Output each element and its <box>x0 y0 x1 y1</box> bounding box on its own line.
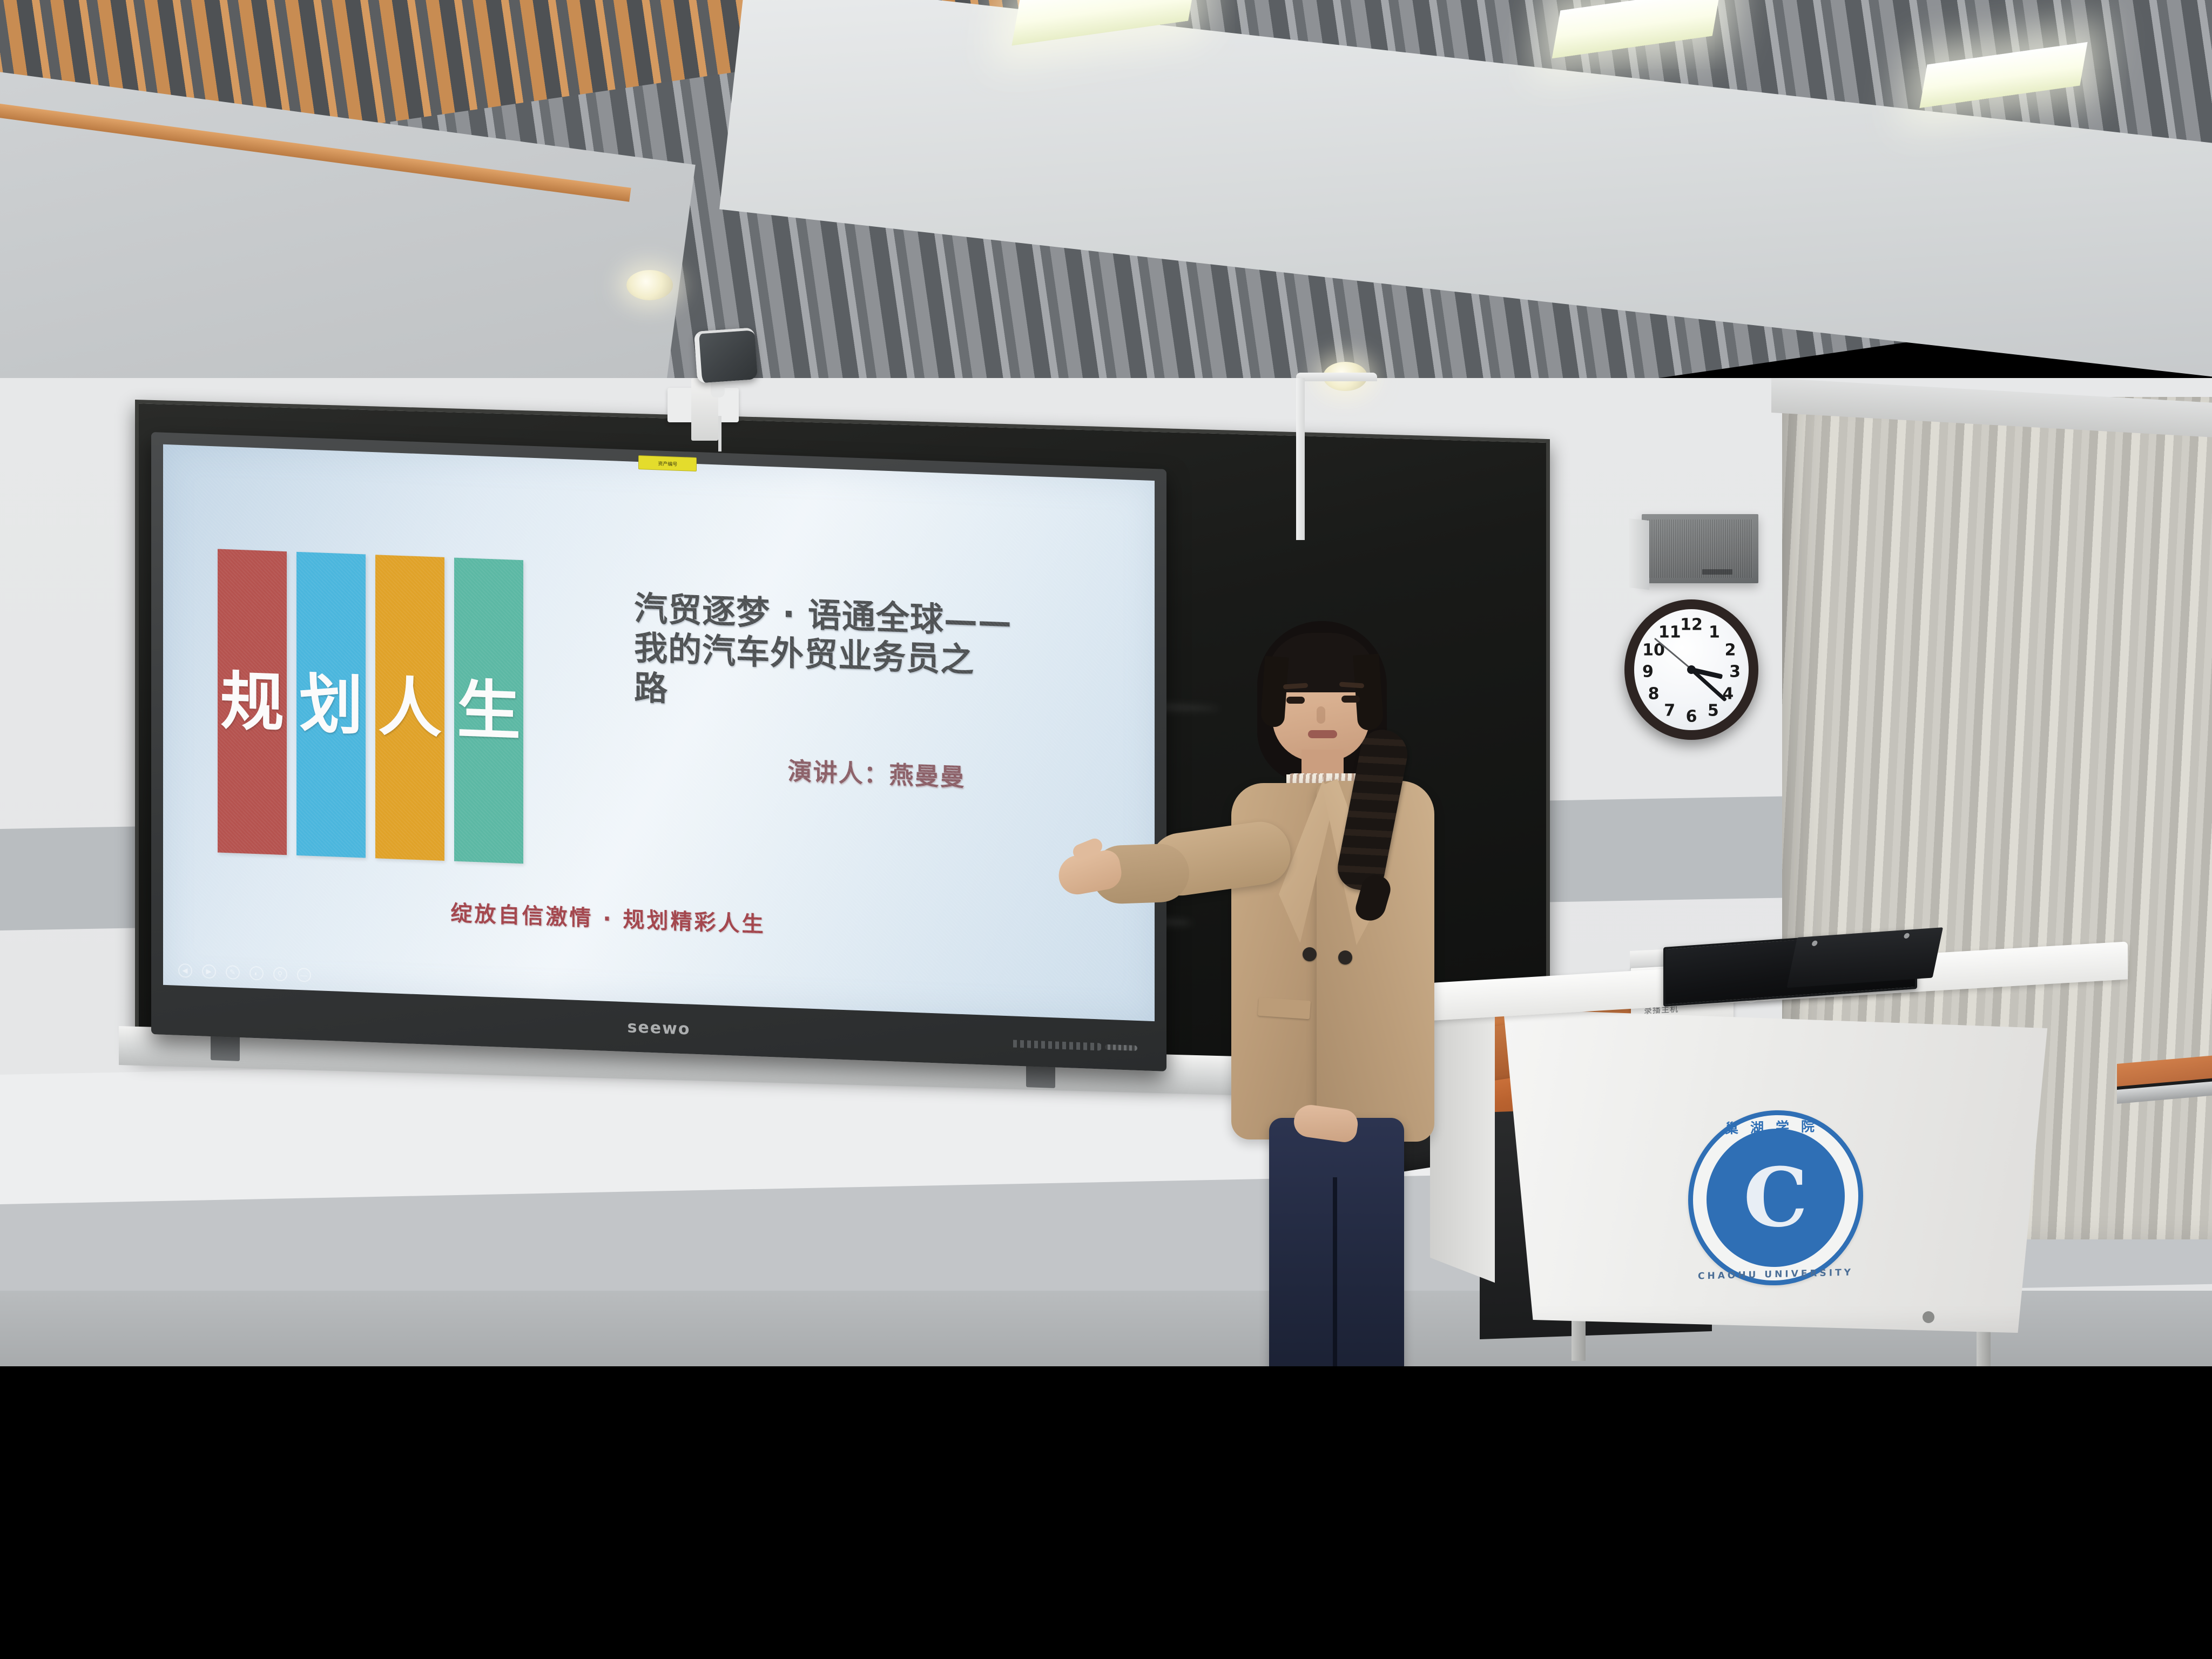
smartboard-screen[interactable]: 规 划 人 生 汽贸逐梦 · 语通全球—— <box>163 444 1155 1021</box>
slide-presenter-label: 演讲人：燕曼曼 <box>788 751 966 793</box>
podium-knob[interactable] <box>1923 1311 1934 1323</box>
podium-monitor[interactable] <box>1663 940 1955 1010</box>
asset-tag-sticker: 资产编号 <box>638 455 697 471</box>
more-icon[interactable]: — <box>297 968 311 982</box>
clock-number-12: 12 <box>1680 616 1703 635</box>
speaker-grill <box>1647 520 1753 578</box>
security-camera-icon <box>694 327 758 383</box>
camera-cable <box>718 416 721 451</box>
wall-conduit <box>1296 373 1377 381</box>
smartboard[interactable]: 规 划 人 生 汽贸逐梦 · 语通全球—— <box>151 432 1166 1071</box>
clock-face: 12 1 2 3 4 5 6 7 8 9 10 11 <box>1634 609 1749 730</box>
speaker-bracket <box>1629 518 1649 590</box>
blazer-pocket-flap <box>1258 997 1311 1020</box>
mouth <box>1308 730 1337 738</box>
presenter-person <box>1166 621 1469 1366</box>
title-bar-3: 人 <box>375 555 444 861</box>
clock-number-9: 9 <box>1642 663 1654 682</box>
clock-number-11: 11 <box>1658 623 1681 642</box>
wall-clock: 12 1 2 3 4 5 6 7 8 9 10 11 <box>1624 599 1758 740</box>
title-bar-4: 生 <box>454 558 523 864</box>
magnify-icon[interactable]: ⚲ <box>273 967 287 981</box>
podium-front-panel: C 巢湖学院 CHAOHU UNIVERSITY <box>1480 1009 2071 1333</box>
clock-number-1: 1 <box>1709 623 1720 642</box>
photo-area: 规 划 人 生 汽贸逐梦 · 语通全球—— <box>0 0 2212 1366</box>
side-desk <box>2117 1064 2212 1129</box>
clock-number-2: 2 <box>1725 641 1736 660</box>
clock-center-cap <box>1687 665 1696 674</box>
title-bar-2: 划 <box>296 552 366 858</box>
slide-toolbar[interactable]: ◀ ▶ ✎ ◐ ⚲ — <box>178 963 311 982</box>
presentation-slide: 规 划 人 生 汽贸逐梦 · 语通全球—— <box>163 444 1155 1021</box>
lectern-podium[interactable]: C 巢湖学院 CHAOHU UNIVERSITY GDDC <box>1426 983 2128 1334</box>
ceiling-downlight <box>626 270 673 300</box>
nose <box>1317 706 1325 724</box>
slide-subtitle: 汽贸逐梦 · 语通全球—— 我的汽车外贸业务员之 路 <box>634 589 1090 724</box>
wall-conduit <box>1296 378 1305 540</box>
clock-number-7: 7 <box>1664 702 1675 720</box>
title-char-3: 人 <box>378 675 442 741</box>
title-char-1: 规 <box>220 669 284 735</box>
university-logo: C 巢湖学院 CHAOHU UNIVERSITY <box>1688 1108 1863 1287</box>
annotate-icon[interactable]: ◐ <box>249 966 264 981</box>
pen-icon[interactable]: ✎ <box>226 965 240 980</box>
title-char-2: 划 <box>299 672 363 738</box>
clock-number-5: 5 <box>1708 702 1719 720</box>
slide-title-bars: 规 划 人 生 <box>218 549 533 864</box>
slide-tagline: 绽放自信激情 · 规划精彩人生 <box>450 895 765 938</box>
prev-icon[interactable]: ◀ <box>178 963 192 978</box>
screw-icon <box>1811 940 1818 946</box>
screw-icon <box>1904 933 1910 939</box>
trouser-seam <box>1333 1177 1337 1366</box>
smartboard-brand-label: seewo <box>628 1017 691 1038</box>
clock-number-3: 3 <box>1729 663 1741 682</box>
clock-number-6: 6 <box>1686 707 1697 726</box>
screenshot-root: 规 划 人 生 汽贸逐梦 · 语通全球—— <box>0 0 2212 1659</box>
clock-number-8: 8 <box>1648 684 1660 703</box>
title-char-4: 生 <box>457 678 521 744</box>
logo-english-name: CHAOHU UNIVERSITY <box>1698 1267 1853 1282</box>
logo-chinese-name: 巢湖学院 <box>1724 1116 1826 1138</box>
next-icon[interactable]: ▶ <box>202 964 216 979</box>
eye-left <box>1286 697 1305 704</box>
eye-right <box>1341 696 1360 703</box>
wall-speaker <box>1642 514 1758 583</box>
letterbox-bottom <box>0 1366 2212 1659</box>
title-bar-1: 规 <box>218 549 287 855</box>
blazer-button <box>1303 947 1317 961</box>
speaker-label <box>1702 569 1732 575</box>
blazer-button <box>1338 950 1352 965</box>
monitor-flap[interactable] <box>1786 927 1943 988</box>
